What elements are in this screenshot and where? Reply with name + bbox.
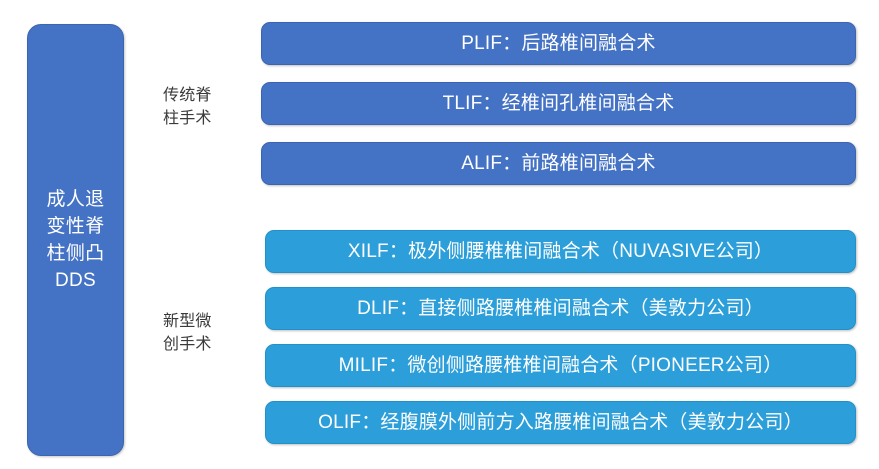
procedure-bar-alif[interactable]: ALIF：前路椎间融合术	[261, 142, 856, 185]
surgery-classification-diagram: 成人退 变性脊 柱侧凸 DDS 传统脊 柱手术 新型微 创手术 PLIF：后路椎…	[0, 0, 879, 469]
group-label-minimally-invasive: 新型微 创手术	[163, 310, 253, 356]
procedure-label-tlif: TLIF：经椎间孔椎间融合术	[443, 93, 675, 115]
group-label-traditional: 传统脊 柱手术	[163, 84, 253, 130]
root-category-box[interactable]: 成人退 变性脊 柱侧凸 DDS	[27, 24, 124, 456]
procedure-bar-plif[interactable]: PLIF：后路椎间融合术	[261, 22, 856, 65]
root-category-label: 成人退 变性脊 柱侧凸 DDS	[47, 186, 105, 294]
procedure-bar-olif[interactable]: OLIF：经腹膜外侧前方入路腰椎间融合术（美敦力公司）	[265, 401, 856, 444]
procedure-label-olif: OLIF：经腹膜外侧前方入路腰椎间融合术（美敦力公司）	[318, 412, 803, 434]
procedure-label-dlif: DLIF：直接侧路腰椎椎间融合术（美敦力公司）	[357, 298, 764, 320]
procedure-label-plif: PLIF：后路椎间融合术	[461, 33, 656, 55]
procedure-bar-dlif[interactable]: DLIF：直接侧路腰椎椎间融合术（美敦力公司）	[265, 287, 856, 330]
procedure-label-alif: ALIF：前路椎间融合术	[461, 153, 656, 175]
procedure-label-xilf: XILF：极外侧腰椎椎间融合术（NUVASIVE公司）	[348, 241, 773, 263]
procedure-bar-milif[interactable]: MILIF：微创侧路腰椎椎间融合术（PIONEER公司）	[265, 344, 856, 387]
procedure-bar-tlif[interactable]: TLIF：经椎间孔椎间融合术	[261, 82, 856, 125]
procedure-bar-xilf[interactable]: XILF：极外侧腰椎椎间融合术（NUVASIVE公司）	[265, 230, 856, 273]
procedure-label-milif: MILIF：微创侧路腰椎椎间融合术（PIONEER公司）	[339, 355, 783, 377]
